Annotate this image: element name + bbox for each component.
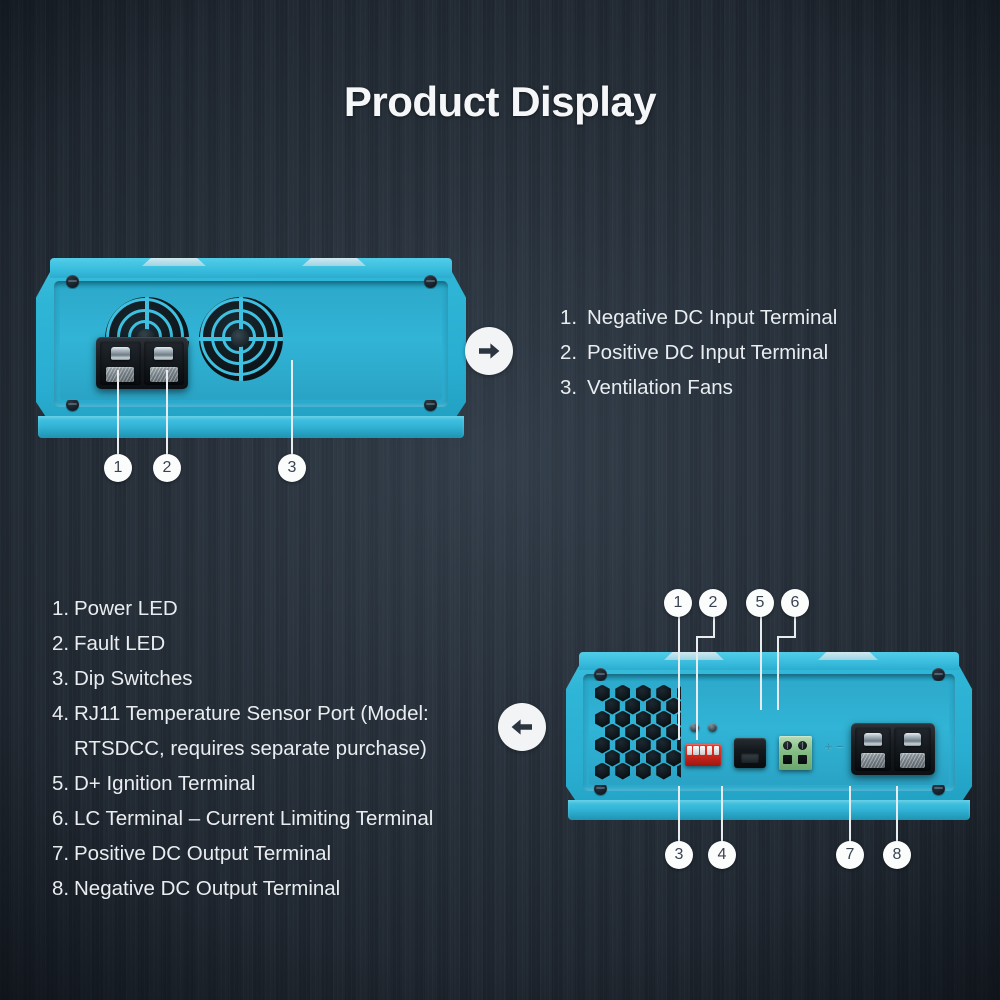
spec-number: 2.: [52, 626, 74, 661]
leader-line-7c: [760, 648, 762, 710]
spec-item: 2. Positive DC Input Terminal: [560, 335, 960, 370]
callout-marker-3b: 3: [665, 841, 693, 869]
product-front-view: [36, 258, 466, 438]
dip-switch-4[interactable]: [707, 746, 712, 755]
leader-line-8: [896, 786, 898, 844]
ventilation-fan-right: [199, 297, 283, 381]
spec-item-continuation: RTSDCC, requires separate purchase): [52, 731, 522, 766]
fault-led: [708, 723, 717, 732]
rj11-temperature-sensor-port[interactable]: [734, 738, 766, 768]
spec-number: 4.: [52, 696, 74, 731]
chassis-notch-left: [142, 258, 206, 266]
positive-dc-input-terminal: [144, 341, 185, 385]
leader-line-1: [117, 370, 119, 454]
product-display-page: Product Display: [0, 0, 1000, 1000]
leader-line-3b: [678, 786, 680, 844]
spec-item: 6. LC Terminal – Current Limiting Termin…: [52, 801, 522, 836]
callout-marker-3: 3: [278, 454, 306, 482]
callout-marker-7: 7: [836, 841, 864, 869]
arrow-right-icon: [465, 327, 513, 375]
dip-switch-3[interactable]: [700, 746, 705, 755]
callout-marker-2b: 2: [699, 589, 727, 617]
chassis-screw-top-left: [66, 275, 79, 288]
spec-number: 3.: [52, 661, 74, 696]
spec-number: 5.: [52, 766, 74, 801]
spec-label: Power LED: [74, 591, 522, 626]
spec-label: LC Terminal – Current Limiting Terminal: [74, 801, 522, 836]
chassis-notch-right: [818, 652, 878, 660]
dplus-lc-terminal-block[interactable]: [779, 736, 812, 770]
callout-marker-4: 4: [708, 841, 736, 869]
leader-line-3: [291, 360, 293, 454]
positive-dc-output-terminal: [855, 727, 892, 771]
chassis-base-foot: [38, 416, 464, 438]
dip-switch-5[interactable]: [714, 746, 719, 755]
leader-line-6c: [696, 636, 698, 740]
spec-label: Fault LED: [74, 626, 522, 661]
lc-current-limiting-terminal[interactable]: [797, 739, 809, 767]
callout-marker-1: 1: [104, 454, 132, 482]
spec-number: 8.: [52, 871, 74, 906]
chassis-notch-left: [664, 652, 724, 660]
leader-line-8c: [777, 636, 779, 710]
spec-item: 8. Negative DC Output Terminal: [52, 871, 522, 906]
chassis-base-foot: [568, 800, 970, 820]
dc-output-terminal-block: [851, 723, 935, 775]
negative-dc-input-terminal: [100, 341, 141, 385]
product-rear-view: + −: [566, 652, 972, 820]
dip-switch-2[interactable]: [693, 746, 698, 755]
spec-label: RTSDCC, requires separate purchase): [52, 731, 522, 766]
chassis-notch-right: [302, 258, 366, 266]
spec-number: 2.: [560, 335, 587, 370]
spec-label: Positive DC Output Terminal: [74, 836, 522, 871]
callout-marker-8: 8: [883, 841, 911, 869]
dplus-ignition-terminal[interactable]: [782, 739, 794, 767]
spec-item: 2. Fault LED: [52, 626, 522, 661]
spec-label: Ventilation Fans: [587, 370, 960, 405]
spec-label: D+ Ignition Terminal: [74, 766, 522, 801]
spec-label: Negative DC Output Terminal: [74, 871, 522, 906]
dip-switch-1[interactable]: [687, 746, 692, 755]
negative-dc-output-terminal: [894, 727, 931, 771]
spec-label: Positive DC Input Terminal: [587, 335, 960, 370]
callout-marker-6: 6: [781, 589, 809, 617]
chassis-screw-top-right: [424, 275, 437, 288]
chassis-top-rail: [50, 258, 453, 278]
page-title: Product Display: [0, 78, 1000, 126]
chassis-top-rail: [579, 652, 959, 670]
callout-marker-2: 2: [153, 454, 181, 482]
spec-item: 7. Positive DC Output Terminal: [52, 836, 522, 871]
chassis-faceplate: + −: [589, 681, 950, 785]
leader-line-5c: [678, 648, 680, 740]
spec-number: 1.: [560, 300, 587, 335]
spec-label: Negative DC Input Terminal: [587, 300, 960, 335]
spec-number: 1.: [52, 591, 74, 626]
spec-item: 3. Ventilation Fans: [560, 370, 960, 405]
spec-list-rear: 1. Power LED 2. Fault LED 3. Dip Switche…: [52, 591, 522, 906]
polarity-marking: + −: [825, 739, 844, 754]
spec-list-front: 1. Negative DC Input Terminal 2. Positiv…: [560, 300, 960, 405]
leader-line-7: [849, 786, 851, 844]
leader-line-6b: [696, 636, 715, 638]
spec-number: 7.: [52, 836, 74, 871]
leader-line-4: [721, 786, 723, 844]
spec-item: 1. Negative DC Input Terminal: [560, 300, 960, 335]
spec-item: 5. D+ Ignition Terminal: [52, 766, 522, 801]
dc-input-terminal-block: [96, 337, 188, 389]
spec-number: 3.: [560, 370, 587, 405]
callout-marker-1b: 1: [664, 589, 692, 617]
spec-item: 1. Power LED: [52, 591, 522, 626]
spec-label: Dip Switches: [74, 661, 522, 696]
chassis-screw-top-right: [932, 668, 945, 681]
spec-item: 3. Dip Switches: [52, 661, 522, 696]
spec-number: 6.: [52, 801, 74, 836]
callout-marker-5: 5: [746, 589, 774, 617]
leader-line-8b: [777, 636, 796, 638]
spec-item: 4. RJ11 Temperature Sensor Port (Model:: [52, 696, 522, 731]
spec-label: RJ11 Temperature Sensor Port (Model:: [74, 696, 522, 731]
leader-line-2: [166, 370, 168, 454]
dip-switch-block[interactable]: [685, 744, 721, 766]
chassis-screw-top-left: [594, 668, 607, 681]
